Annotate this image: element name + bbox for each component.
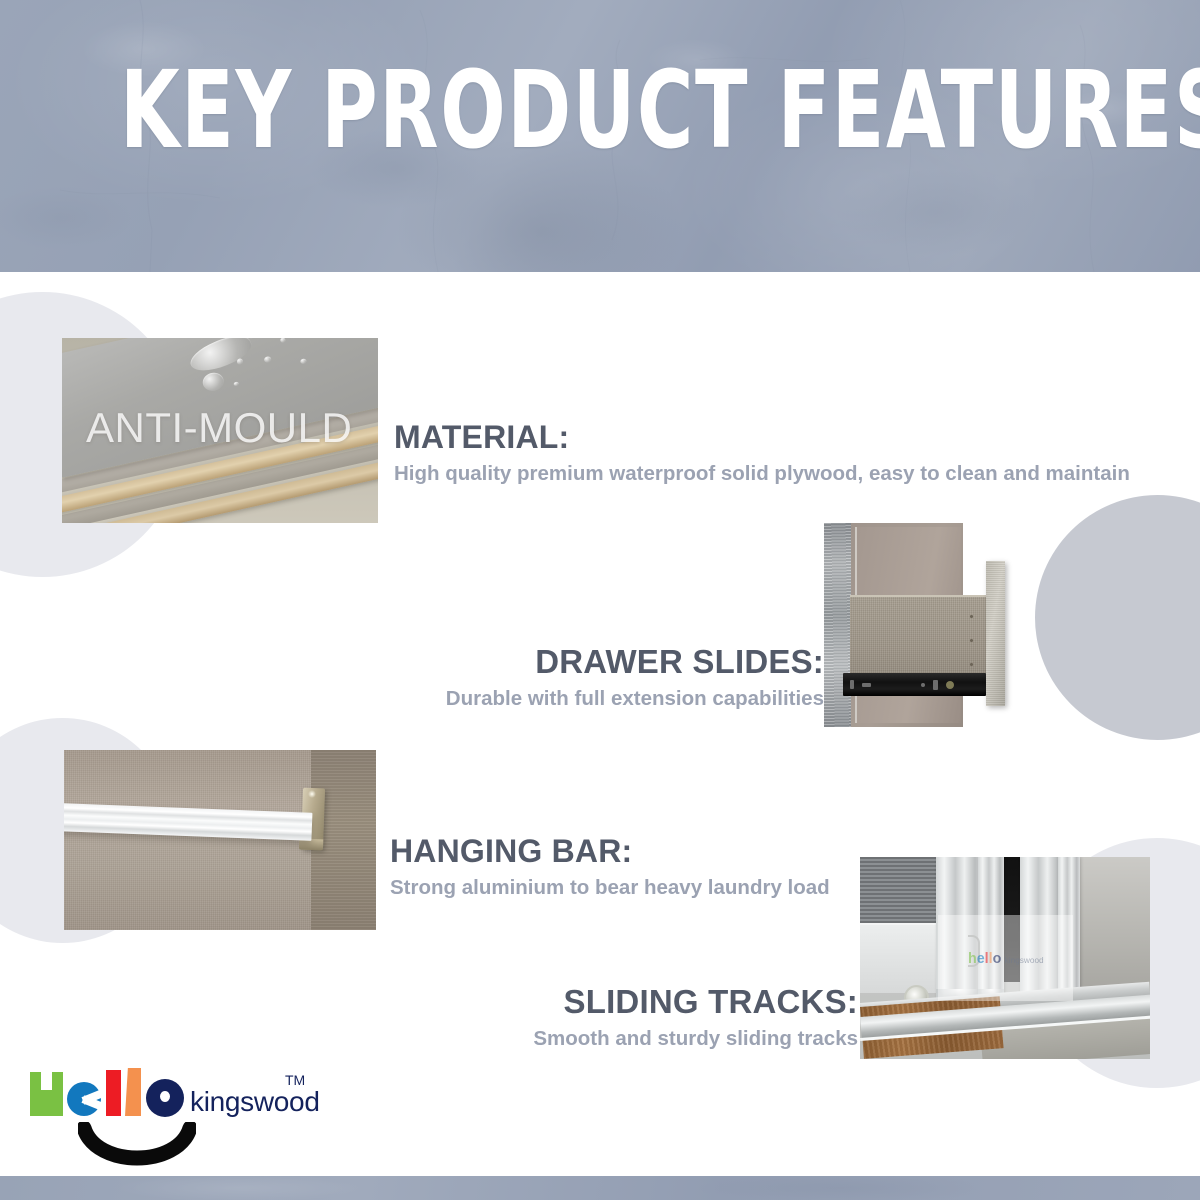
brand-logo[interactable]: kingswood TM bbox=[30, 1068, 310, 1164]
anti-mould-overlay-label: ANTI-MOULD bbox=[86, 404, 352, 452]
hanging-bar-photo bbox=[64, 750, 376, 930]
feature-heading-drawer-slides: DRAWER SLIDES: bbox=[140, 644, 824, 680]
feature-body-material: High quality premium waterproof solid pl… bbox=[394, 461, 1130, 488]
decorative-circle-mid-right bbox=[1035, 495, 1200, 740]
logo-letter-l-red bbox=[106, 1070, 121, 1116]
logo-letter-e bbox=[67, 1082, 101, 1116]
logo-letter-h bbox=[30, 1072, 63, 1116]
feature-text-sliding-tracks: SLIDING TRACKS: Smooth and sturdy slidin… bbox=[180, 984, 858, 1053]
drawer-slide-photo bbox=[824, 523, 1024, 727]
feature-body-sliding-tracks: Smooth and sturdy sliding tracks bbox=[180, 1026, 858, 1053]
feature-heading-hanging-bar: HANGING BAR: bbox=[390, 834, 830, 869]
logo-trademark-symbol: TM bbox=[285, 1072, 305, 1088]
feature-text-hanging-bar: HANGING BAR: Strong aluminium to bear he… bbox=[390, 834, 830, 902]
feature-text-drawer-slides: DRAWER SLIDES: Durable with full extensi… bbox=[140, 644, 824, 713]
feature-heading-material: MATERIAL: bbox=[394, 420, 1130, 455]
header-banner: KEY PRODUCT FEATURES bbox=[0, 0, 1200, 272]
sliding-track-photo: hello kingswood bbox=[860, 857, 1150, 1059]
photo-watermark: hello kingswood bbox=[938, 915, 1073, 1001]
feature-text-material: MATERIAL: High quality premium waterproo… bbox=[394, 420, 1130, 488]
logo-letter-l-orange bbox=[125, 1068, 141, 1116]
logo-wordmark-hello: kingswood TM bbox=[30, 1068, 310, 1116]
feature-body-drawer-slides: Durable with full extension capabilities bbox=[140, 686, 824, 713]
footer-banner bbox=[0, 1176, 1200, 1200]
logo-brand-name: kingswood bbox=[190, 1086, 320, 1118]
feature-heading-sliding-tracks: SLIDING TRACKS: bbox=[180, 984, 858, 1020]
logo-smile-icon bbox=[78, 1122, 196, 1180]
logo-letter-o bbox=[146, 1079, 184, 1117]
feature-body-hanging-bar: Strong aluminium to bear heavy laundry l… bbox=[390, 875, 830, 902]
page-title: KEY PRODUCT FEATURES bbox=[120, 58, 1080, 165]
